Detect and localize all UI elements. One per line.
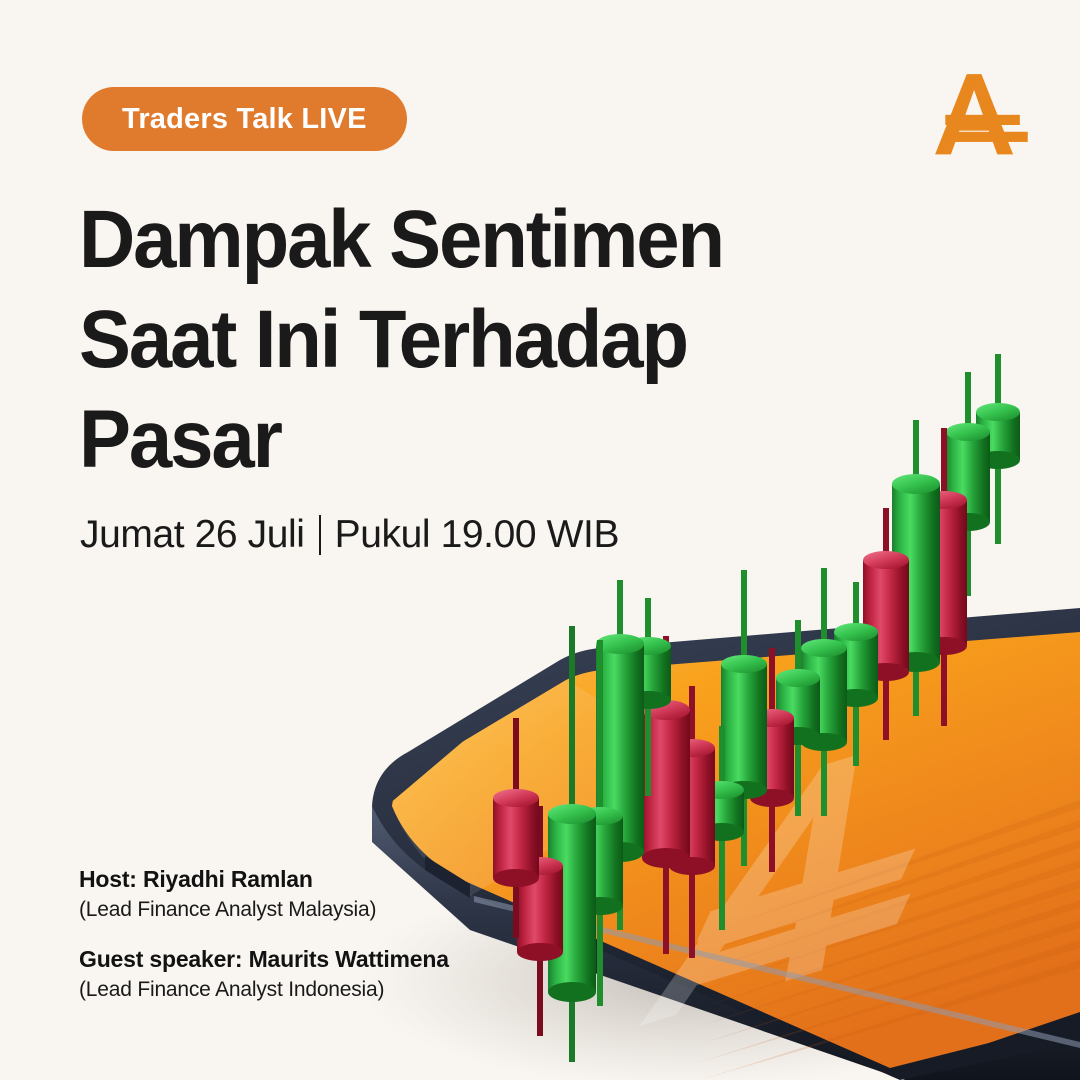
candle-bull-13: [801, 568, 847, 816]
candle-bull-18: [946, 372, 990, 596]
screen-scanlines: [700, 800, 1080, 1080]
speaker-host-name: Host: Riyadhi Ramlan: [79, 866, 449, 893]
smartphone: [372, 608, 1080, 1080]
live-badge[interactable]: Traders Talk LIVE: [82, 87, 407, 151]
candle-bull-4: [577, 640, 623, 1006]
candle-bear-8: [669, 686, 715, 958]
candle-bull-3: [548, 626, 596, 1062]
candle-bear-7: [642, 636, 690, 954]
screen-glare: [392, 680, 700, 896]
altrade-a-logo-icon: [934, 64, 1030, 160]
candle-bull-6: [625, 598, 671, 796]
candle-bull-5: [596, 580, 644, 930]
screen-watermark-icon: [639, 713, 993, 1026]
datetime-separator: [319, 515, 321, 555]
page-title: Dampak Sentimen Saat Ini Terhadap Pasar: [79, 190, 839, 490]
speaker-guest-role: (Lead Finance Analyst Indonesia): [79, 978, 449, 1002]
phone-side: [372, 806, 1080, 1080]
candle-bear-11: [750, 648, 794, 872]
headline-line-2: Saat Ini Terhadap: [79, 290, 801, 390]
speaker-host-role: (Lead Finance Analyst Malaysia): [79, 898, 449, 922]
speaker-list: Host: Riyadhi Ramlan (Lead Finance Analy…: [79, 866, 449, 1002]
speaker-guest: Guest speaker: Maurits Wattimena (Lead F…: [79, 946, 449, 1002]
phone-bezel: [372, 608, 1080, 1080]
speaker-guest-name: Guest speaker: Maurits Wattimena: [79, 946, 449, 973]
event-date: Jumat 26 Juli: [80, 513, 305, 557]
candle-bull-19: [976, 354, 1020, 544]
headline-line-1: Dampak Sentimen: [79, 190, 801, 290]
candle-bear-1: [493, 718, 539, 938]
speaker-host: Host: Riyadhi Ramlan (Lead Finance Analy…: [79, 866, 449, 922]
candle-bear-15: [863, 508, 909, 740]
event-datetime: Jumat 26 Juli Pukul 19.00 WIB: [80, 513, 619, 557]
candle-bull-16: [892, 420, 940, 716]
candle-bear-17: [921, 428, 967, 726]
candle-bull-9: [700, 726, 744, 930]
phone-shadow: [360, 872, 1020, 1080]
poster-canvas: Traders Talk LIVE Dampak Sentimen Saat I…: [0, 0, 1080, 1080]
candle-bear-2: [517, 806, 563, 1036]
headline-line-3: Pasar: [79, 390, 801, 490]
candle-bull-12: [776, 620, 820, 816]
candle-bull-10: [721, 570, 767, 866]
phone-screen: [392, 632, 1080, 1068]
candle-bull-14: [834, 582, 878, 766]
live-badge-label: Traders Talk LIVE: [122, 103, 367, 136]
event-time: Pukul 19.00 WIB: [335, 513, 619, 557]
